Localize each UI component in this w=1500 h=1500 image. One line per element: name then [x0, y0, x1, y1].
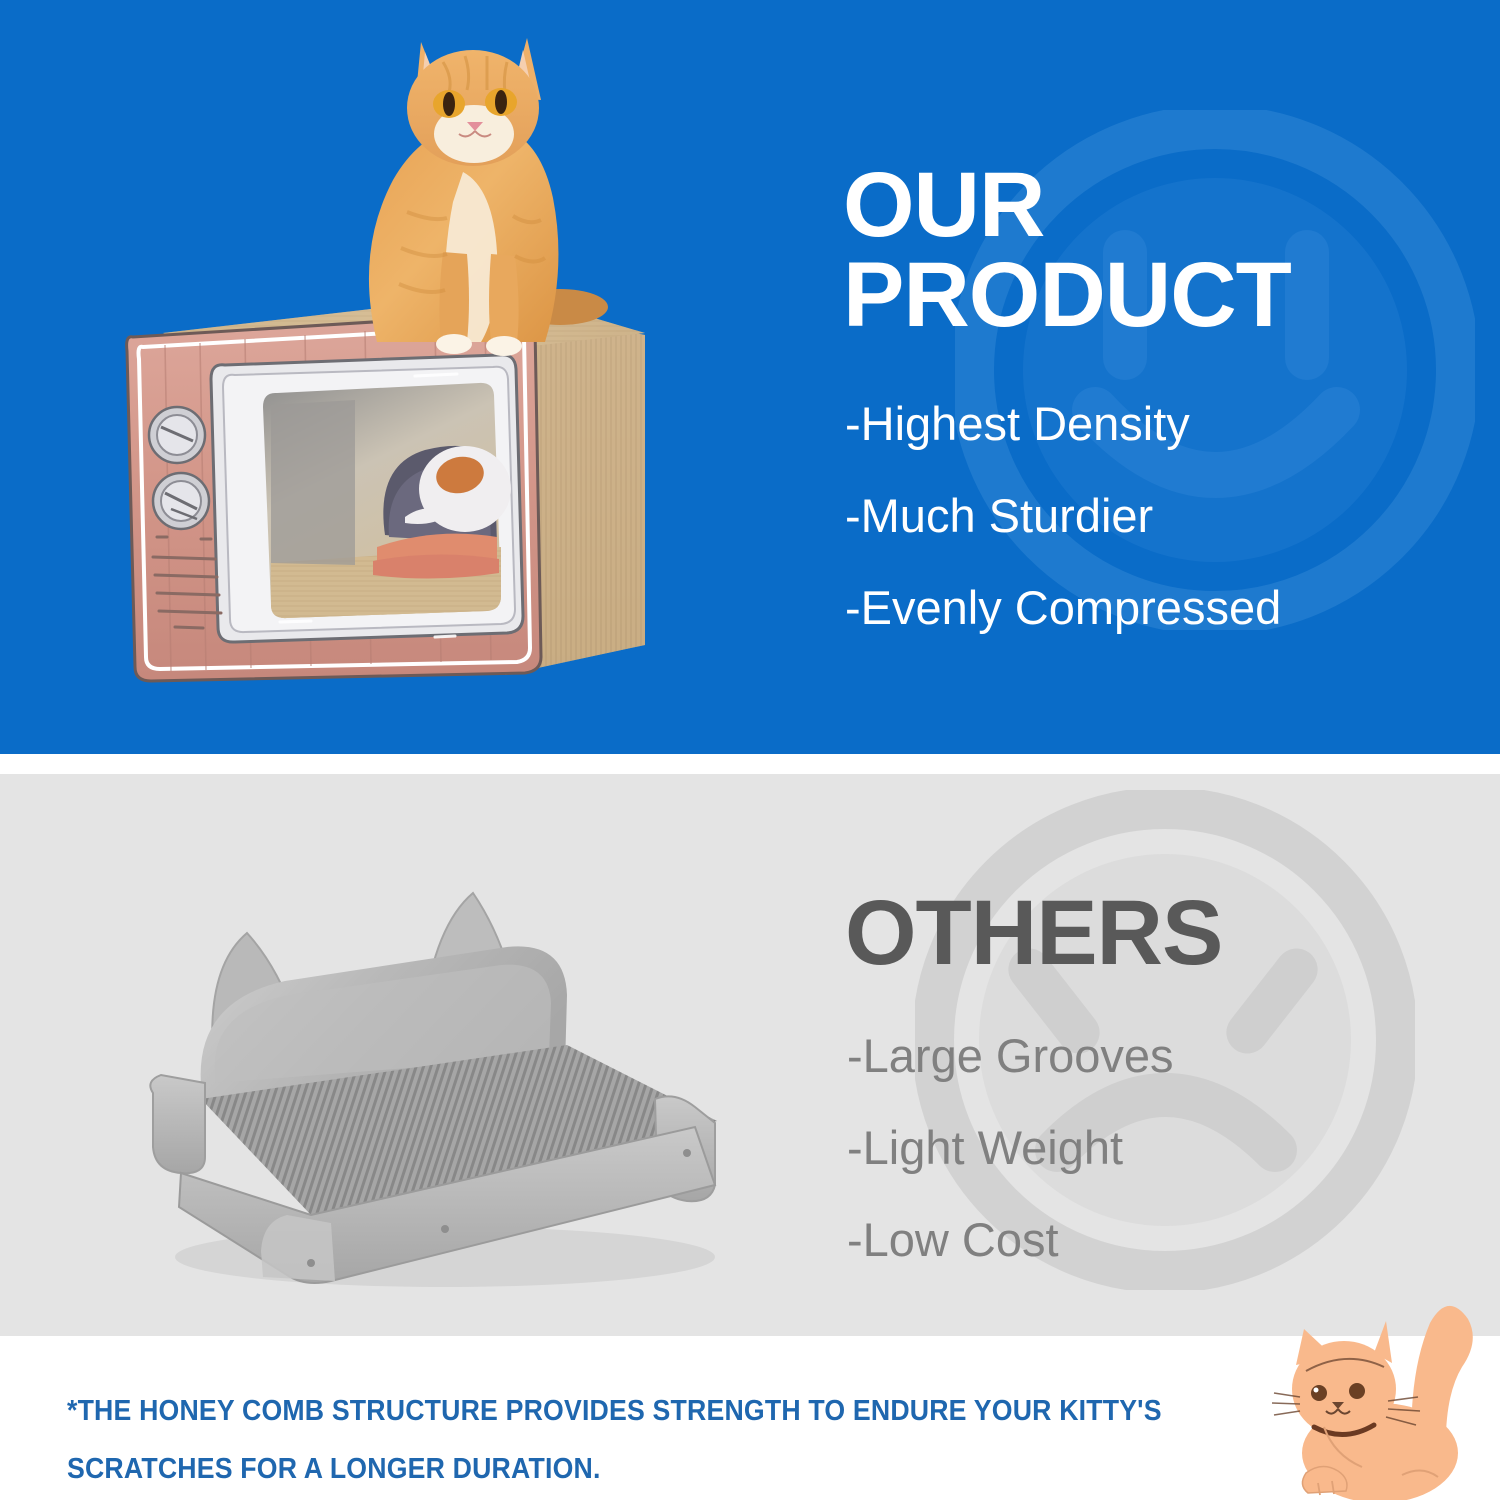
our-product-bullet-2: -Much Sturdier	[845, 492, 1465, 539]
others-bullet-2: -Light Weight	[847, 1124, 1467, 1171]
footnote-line-2: SCRATCHES FOR A LONGER DURATION.	[67, 1440, 1171, 1498]
our-product-heading: OUR PRODUCT	[843, 160, 1483, 340]
our-product-heading-line1: OUR	[843, 160, 1483, 250]
footnote-text: *THE HONEY COMB STRUCTURE PROVIDES STREN…	[67, 1382, 1171, 1498]
footnote-line-1: *THE HONEY COMB STRUCTURE PROVIDES STREN…	[67, 1382, 1171, 1440]
infographic-page: OUR PRODUCT -Highest Density -Much Sturd…	[0, 0, 1500, 1500]
orange-cat-photo	[315, 12, 625, 362]
others-bullet-list: -Large Grooves -Light Weight -Low Cost	[847, 1032, 1467, 1308]
our-product-bullet-3: -Evenly Compressed	[845, 584, 1465, 631]
others-bullet-3: -Low Cost	[847, 1216, 1467, 1263]
others-heading: OTHERS	[845, 888, 1485, 978]
others-bullet-1: -Large Grooves	[847, 1032, 1467, 1079]
cartoon-cat-mascot-icon	[1262, 1305, 1492, 1500]
our-product-bullet-1: -Highest Density	[845, 400, 1465, 447]
our-product-panel: OUR PRODUCT -Highest Density -Much Sturd…	[0, 0, 1500, 754]
our-product-bullet-list: -Highest Density -Much Sturdier -Evenly …	[845, 400, 1465, 676]
our-product-heading-line2: PRODUCT	[843, 250, 1483, 340]
others-scratcher-image	[135, 885, 745, 1295]
others-panel: OTHERS -Large Grooves -Light Weight -Low…	[0, 774, 1500, 1336]
